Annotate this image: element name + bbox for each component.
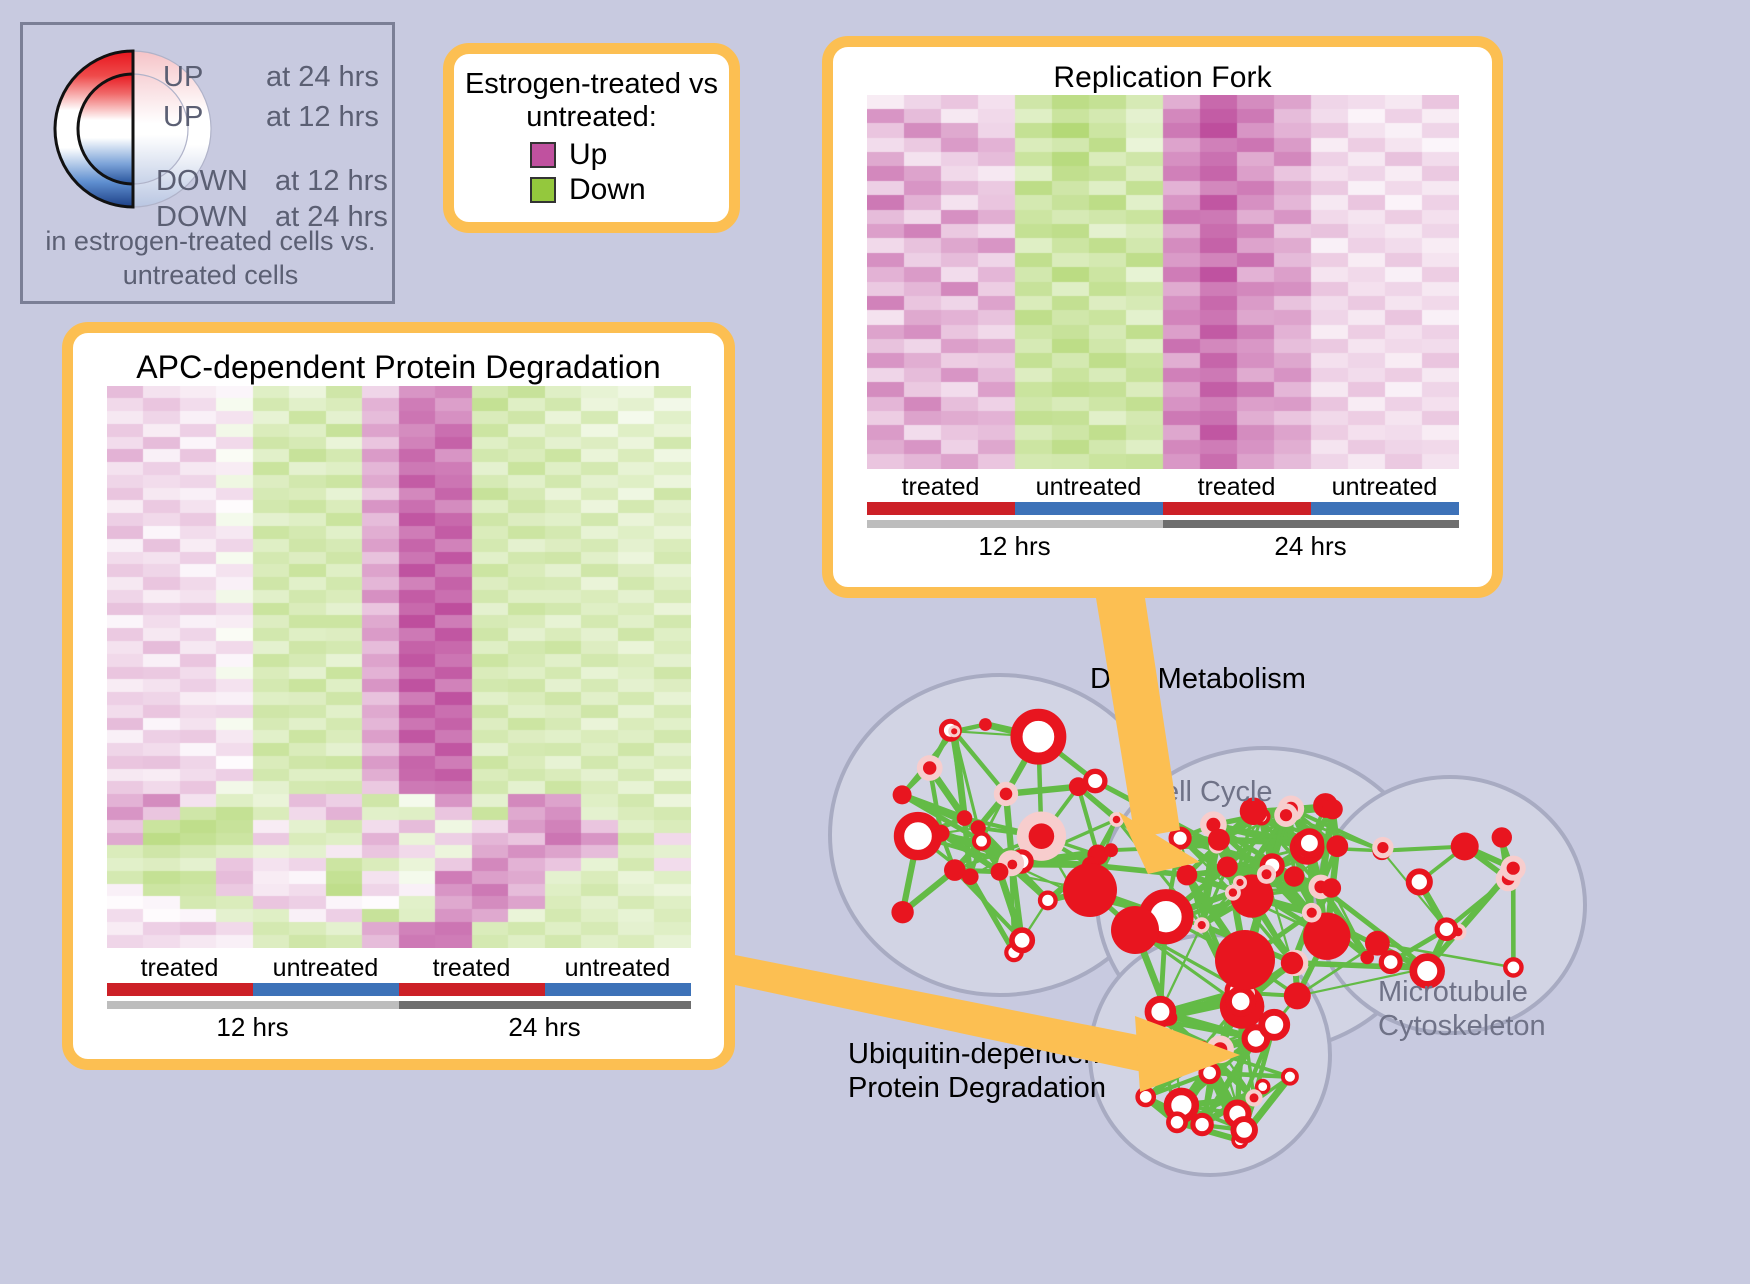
network-node[interactable]: [1177, 865, 1198, 886]
group-label-3: untreated: [1311, 473, 1459, 502]
network-node[interactable]: [1012, 930, 1032, 950]
replication-group-labels: treated untreated treated untreated: [867, 473, 1459, 502]
network-diagram: DNA Metabolism Cell Cycle Microtubule Cy…: [790, 600, 1750, 1279]
network-node-core: [933, 825, 950, 842]
panel-replication-fork: Replication Fork treated untreated treat…: [822, 36, 1503, 598]
legend-row-2-label: DOWN: [156, 165, 248, 198]
network-node-core: [1281, 952, 1303, 974]
cluster-label-ubiquitin-degradation: Ubiquitin-dependent Protein Degradation: [848, 1037, 1108, 1105]
network-node[interactable]: [1492, 827, 1512, 847]
replication-time-labels: 12 hrs 24 hrs: [867, 531, 1459, 562]
network-node-core: [1377, 842, 1388, 853]
panel-apc-degradation: APC-dependent Protein Degradation treate…: [62, 322, 735, 1070]
network-node[interactable]: [1281, 952, 1303, 974]
network-node-core: [1213, 1042, 1227, 1056]
group-label-1: untreated: [253, 954, 399, 983]
network-node[interactable]: [1298, 832, 1321, 855]
network-node-core: [893, 785, 912, 804]
group-label-3: untreated: [545, 954, 691, 983]
key-item-up: Up: [530, 140, 729, 170]
network-node-core: [1451, 833, 1479, 861]
network-node-core: [962, 868, 979, 885]
network-node-core: [979, 718, 992, 731]
network-node-core: [1215, 930, 1275, 990]
network-node[interactable]: [1274, 803, 1298, 827]
time-bar-12hrs: [107, 1001, 399, 1009]
group-bar-treated-12: [867, 502, 1015, 515]
network-node-core: [1007, 860, 1017, 870]
network-node[interactable]: [971, 820, 986, 835]
network-node-ring: [1040, 893, 1056, 909]
network-node-ring: [1298, 832, 1321, 855]
network-node[interactable]: [893, 785, 912, 804]
network-node[interactable]: [1138, 1089, 1154, 1105]
apc-group-colorbar: [107, 983, 691, 996]
network-node-core: [1177, 865, 1198, 886]
apc-group-labels: treated untreated treated untreated: [107, 954, 691, 983]
network-node-core: [1250, 1093, 1259, 1102]
network-node[interactable]: [1381, 953, 1400, 972]
group-bar-treated-12: [107, 983, 253, 996]
key-item-down: Down: [530, 175, 729, 205]
network-node-core: [1113, 816, 1121, 824]
cluster-label-microtubule-cytoskeleton: Microtubule Cytoskeleton: [1378, 975, 1546, 1043]
network-node-ring: [1168, 1114, 1185, 1131]
network-node-core: [1280, 809, 1292, 821]
network-node[interactable]: [1283, 1070, 1297, 1084]
network-node-core: [1236, 879, 1243, 886]
network-node[interactable]: [1233, 876, 1247, 890]
group-label-2: treated: [1163, 473, 1311, 502]
network-node-core: [1507, 862, 1520, 875]
network-node-ring: [974, 834, 989, 849]
network-node[interactable]: [1193, 1115, 1211, 1133]
network-node-ring: [899, 817, 937, 855]
network-node-core: [1217, 857, 1238, 878]
group-label-2: treated: [399, 954, 545, 983]
network-node[interactable]: [979, 718, 992, 731]
network-node[interactable]: [962, 868, 979, 885]
group-bar-treated-24: [399, 983, 545, 996]
network-node[interactable]: [933, 825, 950, 842]
network-node-core: [1111, 906, 1159, 954]
network-node-ring: [1193, 1115, 1211, 1133]
cluster-label-dna-metabolism: DNA Metabolism: [1090, 662, 1306, 696]
network-svg: [790, 600, 1750, 1279]
group-bar-untreated-24: [545, 983, 691, 996]
network-node[interactable]: [1148, 999, 1173, 1024]
network-node-ring: [1138, 1089, 1154, 1105]
network-node[interactable]: [1262, 1012, 1287, 1037]
network-node[interactable]: [994, 782, 1018, 806]
network-node[interactable]: [1326, 835, 1348, 857]
network-node[interactable]: [1451, 833, 1479, 861]
network-node[interactable]: [1302, 903, 1322, 923]
network-node[interactable]: [1017, 715, 1061, 759]
network-node-core: [1307, 908, 1317, 918]
network-node-core: [1322, 799, 1342, 819]
network-node-ring: [1171, 829, 1189, 847]
network-node-ring: [1201, 1064, 1219, 1082]
legend-row-1-time: at 12 hrs: [266, 101, 379, 134]
network-node[interactable]: [1111, 906, 1159, 954]
network-node[interactable]: [1437, 920, 1456, 939]
network-node[interactable]: [1215, 930, 1275, 990]
apc-time-labels: 12 hrs 24 hrs: [107, 1012, 691, 1043]
network-node[interactable]: [1229, 989, 1253, 1013]
network-node[interactable]: [1505, 959, 1521, 975]
network-node[interactable]: [1322, 878, 1341, 897]
group-label-0: treated: [107, 954, 253, 983]
network-node-core: [891, 901, 913, 923]
network-node-core: [1000, 788, 1013, 801]
network-node[interactable]: [1168, 1114, 1185, 1131]
figure-stage: UP at 24 hrs UP at 12 hrs DOWN at 12 hrs…: [0, 0, 1750, 1279]
key-title: Estrogen-treated vs untreated:: [454, 68, 729, 135]
heatmap-replication-fork: [867, 95, 1459, 469]
network-node-core: [923, 761, 936, 774]
down-swatch-icon: [530, 177, 556, 203]
colorwheel-legend-box: UP at 24 hrs UP at 12 hrs DOWN at 12 hrs…: [20, 22, 395, 304]
time-bar-24hrs: [1163, 520, 1459, 528]
network-node[interactable]: [1409, 871, 1430, 892]
network-node[interactable]: [1233, 1119, 1255, 1141]
network-node-ring: [1148, 999, 1173, 1024]
network-node[interactable]: [1372, 837, 1393, 858]
network-node-core: [1492, 827, 1512, 847]
network-node-core: [1262, 869, 1272, 879]
legend-row-1-label: UP: [163, 101, 203, 134]
network-node[interactable]: [1109, 812, 1124, 827]
network-node[interactable]: [1171, 829, 1189, 847]
network-node-ring: [1409, 871, 1430, 892]
network-node[interactable]: [1208, 829, 1230, 851]
network-node-core: [1229, 888, 1237, 896]
replication-time-colorbar: [867, 520, 1459, 528]
network-node[interactable]: [1063, 863, 1117, 917]
network-node-core: [971, 820, 986, 835]
network-node-core: [1208, 829, 1230, 851]
network-node[interactable]: [1284, 866, 1304, 886]
network-node-ring: [1283, 1070, 1297, 1084]
time-label-12hrs: 12 hrs: [867, 531, 1163, 562]
time-label-12hrs: 12 hrs: [107, 1012, 399, 1043]
network-node[interactable]: [974, 834, 989, 849]
legend-caption: in estrogen-treated cells vs. untreated …: [23, 225, 398, 293]
key-item-up-label: Up: [569, 140, 607, 170]
legend-row-2-time: at 12 hrs: [275, 165, 388, 198]
network-node-core: [1322, 878, 1341, 897]
network-node-ring: [1086, 771, 1105, 790]
time-label-24hrs: 24 hrs: [1163, 531, 1459, 562]
network-node[interactable]: [1194, 917, 1210, 933]
network-node-core: [1284, 982, 1311, 1009]
network-node-ring: [1233, 1119, 1255, 1141]
network-node[interactable]: [1104, 843, 1118, 857]
network-node[interactable]: [891, 901, 913, 923]
network-node-core: [1284, 866, 1304, 886]
panel-replication-title: Replication Fork: [833, 47, 1492, 95]
group-label-0: treated: [867, 473, 1015, 502]
network-node-ring: [1262, 1012, 1287, 1037]
network-node[interactable]: [1257, 865, 1276, 884]
network-node[interactable]: [1217, 857, 1238, 878]
network-node[interactable]: [917, 755, 943, 781]
updown-key-box: Estrogen-treated vs untreated: Up Down: [443, 43, 740, 233]
legend-row-0-label: UP: [163, 61, 203, 94]
network-node[interactable]: [1245, 1089, 1262, 1106]
network-node-core: [1029, 823, 1055, 849]
time-label-24hrs: 24 hrs: [399, 1012, 691, 1043]
network-node-ring: [1017, 715, 1061, 759]
network-node[interactable]: [1322, 799, 1342, 819]
up-swatch-icon: [530, 142, 556, 168]
network-node[interactable]: [1501, 856, 1526, 881]
network-node[interactable]: [1201, 1064, 1219, 1082]
network-node-core: [951, 728, 957, 734]
key-item-down-label: Down: [569, 175, 646, 205]
time-bar-12hrs: [867, 520, 1163, 528]
network-node-ring: [1229, 989, 1253, 1013]
network-node[interactable]: [899, 817, 937, 855]
group-bar-untreated-24: [1311, 502, 1459, 515]
network-node-ring: [1437, 920, 1456, 939]
network-node[interactable]: [957, 810, 973, 826]
group-bar-untreated-12: [253, 983, 399, 996]
network-node[interactable]: [948, 725, 960, 737]
cluster-label-cell-cycle: Cell Cycle: [1142, 775, 1273, 809]
network-node-core: [1104, 843, 1118, 857]
network-node-ring: [1012, 930, 1032, 950]
network-node[interactable]: [1040, 893, 1056, 909]
network-node[interactable]: [1284, 982, 1311, 1009]
network-node-ring: [1381, 953, 1400, 972]
network-node[interactable]: [1086, 771, 1105, 790]
network-node[interactable]: [1206, 1036, 1234, 1064]
network-node-core: [1326, 835, 1348, 857]
network-node-core: [1063, 863, 1117, 917]
network-node-ring: [1505, 959, 1521, 975]
panel-apc-title: APC-dependent Protein Degradation: [73, 333, 724, 386]
apc-time-colorbar: [107, 1001, 691, 1009]
network-node[interactable]: [991, 863, 1009, 881]
time-bar-24hrs: [399, 1001, 691, 1009]
network-node-core: [991, 863, 1009, 881]
heatmap-apc-degradation: [107, 386, 691, 948]
network-node-core: [1198, 921, 1206, 929]
replication-group-colorbar: [867, 502, 1459, 515]
group-label-1: untreated: [1015, 473, 1163, 502]
group-bar-untreated-12: [1015, 502, 1163, 515]
legend-row-0-time: at 24 hrs: [266, 61, 379, 94]
group-bar-treated-24: [1163, 502, 1311, 515]
network-node-core: [957, 810, 973, 826]
